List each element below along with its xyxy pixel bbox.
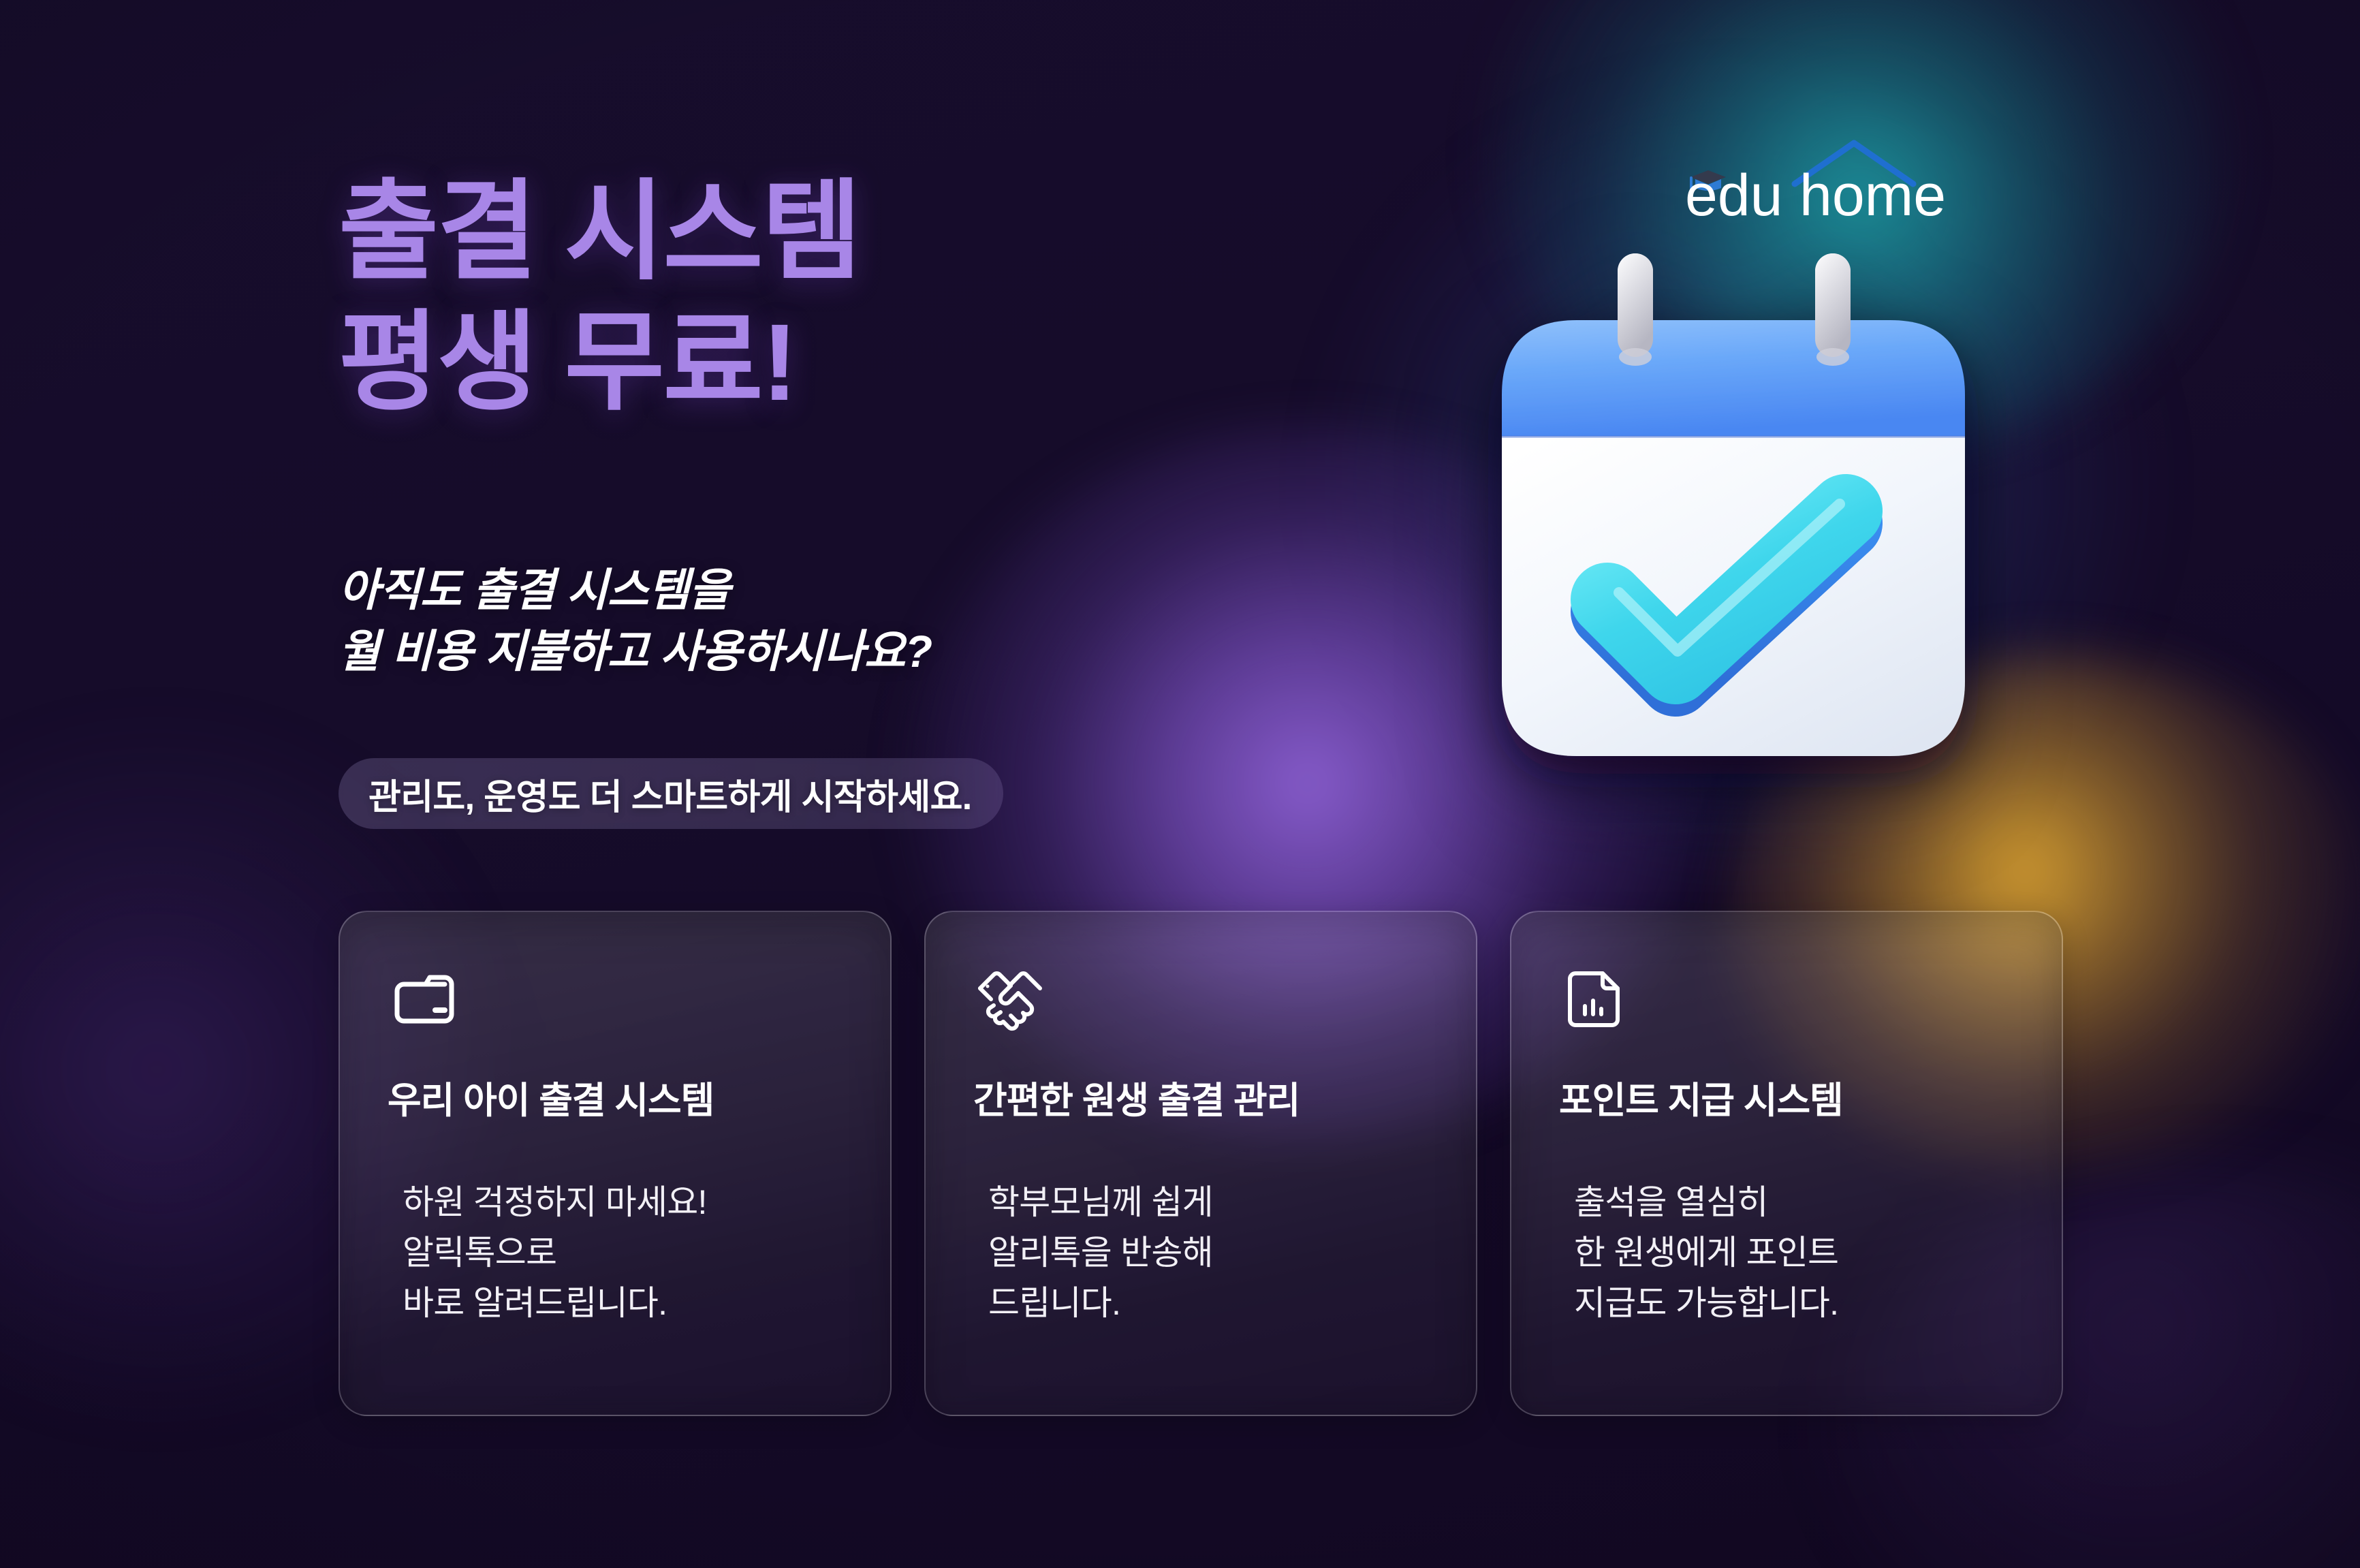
feature-card-body: 하원 걱정하지 마세요! 알릭톡으로 바로 알려드립니다. bbox=[388, 1177, 890, 1328]
status-badge: 관리도, 운영도 더 스마트하게 시작하세요. bbox=[339, 758, 1003, 829]
feature-card-attendance[interactable]: 우리 아이 출결 시스템 하원 걱정하지 마세요! 알릭톡으로 바로 알려드립니… bbox=[339, 911, 892, 1416]
feature-card-body: 출석을 열심히 한 원생에게 포인트 지급도 가능합니다. bbox=[1559, 1177, 2062, 1328]
feature-card-title: 우리 아이 출결 시스템 bbox=[388, 1070, 890, 1124]
wallet-icon bbox=[388, 961, 461, 1035]
feature-card-list: 우리 아이 출결 시스템 하원 걱정하지 마세요! 알릭톡으로 바로 알려드립니… bbox=[339, 911, 2063, 1416]
feature-card-title: 간편한 원생 출결 관리 bbox=[973, 1070, 1476, 1124]
promo-banner: edu home bbox=[0, 0, 2360, 1568]
status-badge-label: 관리도, 운영도 더 스마트하게 시작하세요. bbox=[368, 768, 972, 819]
calendar-illustration bbox=[1461, 238, 2006, 838]
document-chart-icon bbox=[1559, 961, 1633, 1035]
feature-card-points[interactable]: 포인트 지급 시스템 출석을 열심히 한 원생에게 포인트 지급도 가능합니다. bbox=[1510, 911, 2063, 1416]
feature-card-title: 포인트 지급 시스템 bbox=[1559, 1070, 2062, 1124]
handshake-icon bbox=[973, 961, 1047, 1035]
logo-text-edu: edu bbox=[1685, 163, 1783, 223]
feature-card-management[interactable]: 간편한 원생 출결 관리 학부모님께 쉽게 알리톡을 반송해 드립니다. bbox=[924, 911, 1477, 1416]
brand-logo: edu home bbox=[1678, 135, 1998, 223]
hero-subheadline: 아직도 출결 시스템을 월 비용 지불하고 사용하시나요? bbox=[339, 560, 932, 683]
page-title: 출결 시스템 평생 무료! bbox=[339, 166, 860, 428]
logo-text-home: home bbox=[1799, 163, 1946, 223]
feature-card-body: 학부모님께 쉽게 알리톡을 반송해 드립니다. bbox=[973, 1177, 1476, 1328]
